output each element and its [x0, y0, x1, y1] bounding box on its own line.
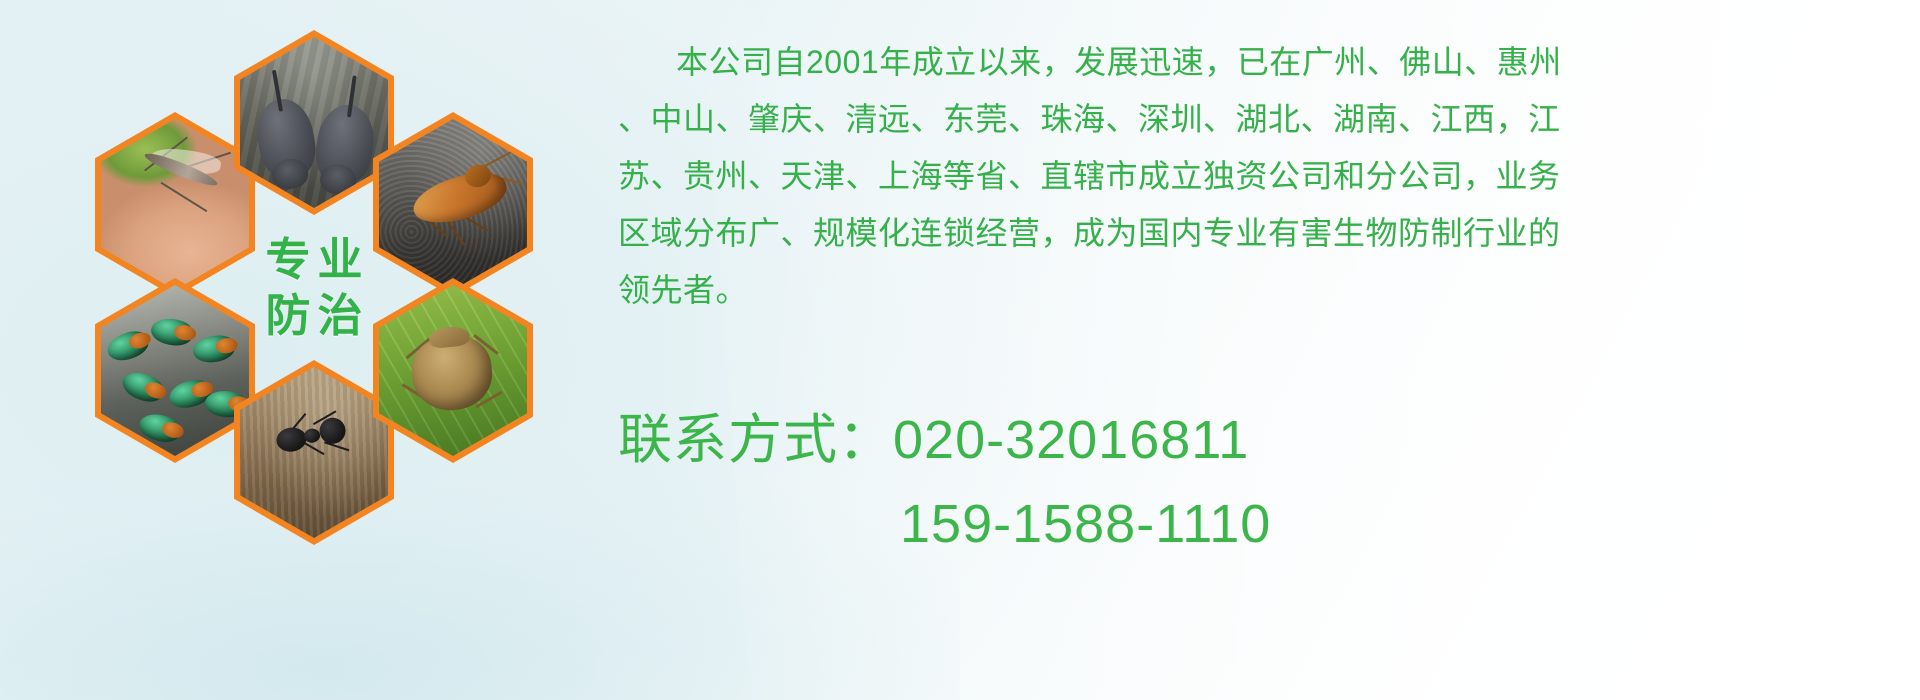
- description-line-3: 苏、贵州、天津、上海等省、直辖市成立独资公司和分公司，业务: [618, 148, 1888, 205]
- promo-banner: 专业 防治 本公司自2001年成立以来，发展迅速，已在广州、佛山、惠州 、中山、…: [0, 0, 1920, 700]
- description-line-2: 、中山、肇庆、清远、东莞、珠海、深圳、湖北、湖南、江西，江: [618, 91, 1888, 148]
- description-line-1: 本公司自2001年成立以来，发展迅速，已在广州、佛山、惠州: [618, 34, 1888, 91]
- cockroach-photo: [379, 119, 527, 290]
- hex-cell-slogan: 专业 防治: [234, 195, 394, 380]
- rats-photo: [240, 37, 388, 208]
- mosquito-photo: [101, 119, 249, 290]
- ant-photo: [240, 367, 388, 538]
- contact-mobile[interactable]: 159-1588-1110: [618, 482, 1271, 566]
- hex-cell-flies[interactable]: [95, 278, 255, 463]
- hex-cell-cockroach[interactable]: [373, 112, 533, 297]
- company-description: 本公司自2001年成立以来，发展迅速，已在广州、佛山、惠州 、中山、肇庆、清远、…: [618, 34, 1888, 319]
- description-line-5: 领先者。: [618, 262, 1888, 319]
- honeycomb-gallery: 专业 防治: [95, 8, 595, 578]
- description-line-4: 区域分布广、规模化连锁经营，成为国内专业有害生物防制行业的: [618, 205, 1888, 262]
- slogan-line-1: 专业: [258, 236, 369, 283]
- hex-cell-ant[interactable]: [234, 360, 394, 545]
- hex-cell-rats[interactable]: [234, 30, 394, 215]
- hex-cell-stinkbug[interactable]: [373, 278, 533, 463]
- contact-block: 联系方式：020-32016811 159-1588-1110: [618, 398, 1271, 566]
- hex-cell-mosquito[interactable]: [95, 112, 255, 297]
- stinkbug-photo: [379, 285, 527, 456]
- slogan-line-2: 防治: [258, 292, 369, 339]
- flies-photo: [101, 285, 249, 456]
- contact-landline[interactable]: 联系方式：020-32016811: [618, 398, 1271, 482]
